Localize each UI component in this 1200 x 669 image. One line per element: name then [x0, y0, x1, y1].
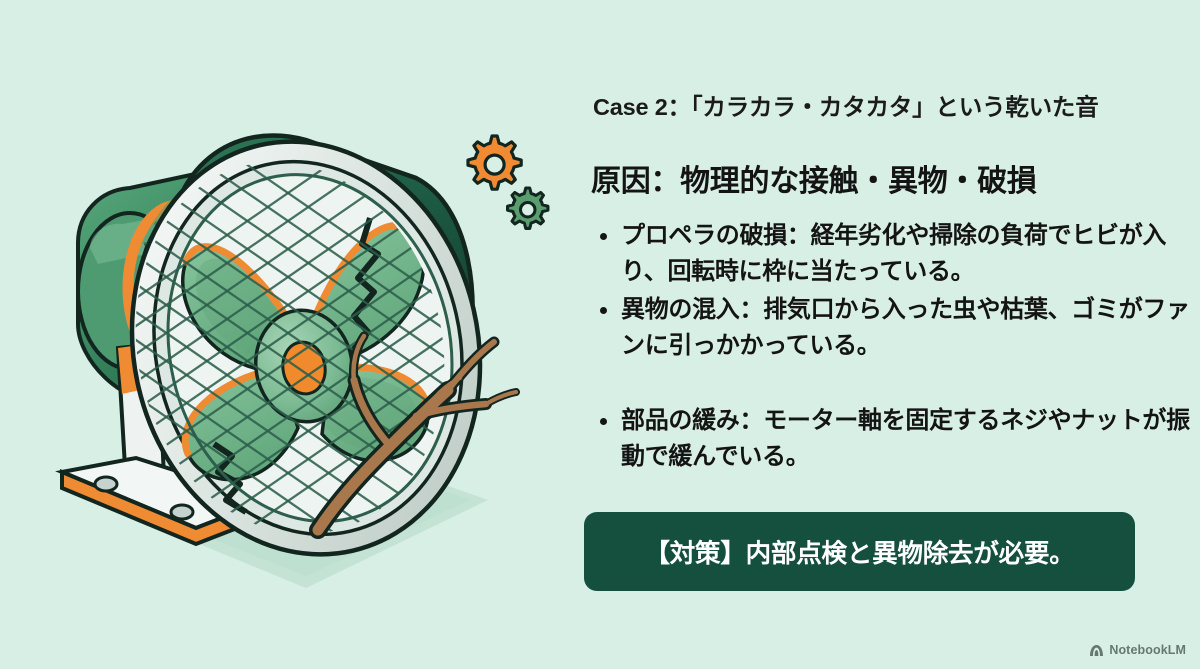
fan-illustration [18, 48, 578, 608]
action-callout-box: 【対策】内部点検と異物除去が必要。 [584, 512, 1135, 591]
list-item: 部品の緩み：モーター軸を固定するネジやナットが振動で緩んでいる。 [591, 403, 1197, 475]
gear-orange-icon [468, 136, 521, 189]
cause-heading: 原因：物理的な接触・異物・破損 [591, 156, 1191, 200]
gear-green-icon [508, 188, 548, 228]
bullet-dot-icon [600, 418, 607, 425]
list-item-text: 異物の混入：排気口から入った虫や枯葉、ゴミがファンに引っかかっている。 [621, 296, 1190, 359]
notebooklm-watermark: NotebookLM [1089, 643, 1186, 657]
bullet-group-loose-parts: 部品の緩み：モーター軸を固定するネジやナットが振動で緩んでいる。 [591, 403, 1197, 477]
list-item: プロペラの破損：経年劣化や掃除の負荷でヒビが入り、回転時に枠に当たっている。 [591, 218, 1197, 290]
case-title: Case 2：「カラカラ・カタカタ」という乾いた音 [593, 88, 1193, 122]
slide-canvas: Case 2：「カラカラ・カタカタ」という乾いた音 原因：物理的な接触・異物・破… [0, 0, 1200, 669]
list-item-text: 部品の緩み：モーター軸を固定するネジやナットが振動で緩んでいる。 [621, 407, 1190, 470]
list-item: 異物の混入：排気口から入った虫や枯葉、ゴミがファンに引っかかっている。 [591, 292, 1197, 364]
watermark-label: NotebookLM [1109, 643, 1186, 657]
bullet-dot-icon [600, 233, 607, 240]
bullet-group-causes: プロペラの破損：経年劣化や掃除の負荷でヒビが入り、回転時に枠に当たっている。 異… [591, 218, 1197, 366]
bullet-dot-icon [600, 307, 607, 314]
list-item-text: プロペラの破損：経年劣化や掃除の負荷でヒビが入り、回転時に枠に当たっている。 [621, 222, 1166, 285]
action-callout-text: 【対策】内部点検と異物除去が必要。 [644, 533, 1074, 570]
content-panel: Case 2：「カラカラ・カタカタ」という乾いた音 原因：物理的な接触・異物・破… [586, 0, 1200, 669]
notebooklm-logo-icon [1089, 644, 1104, 657]
